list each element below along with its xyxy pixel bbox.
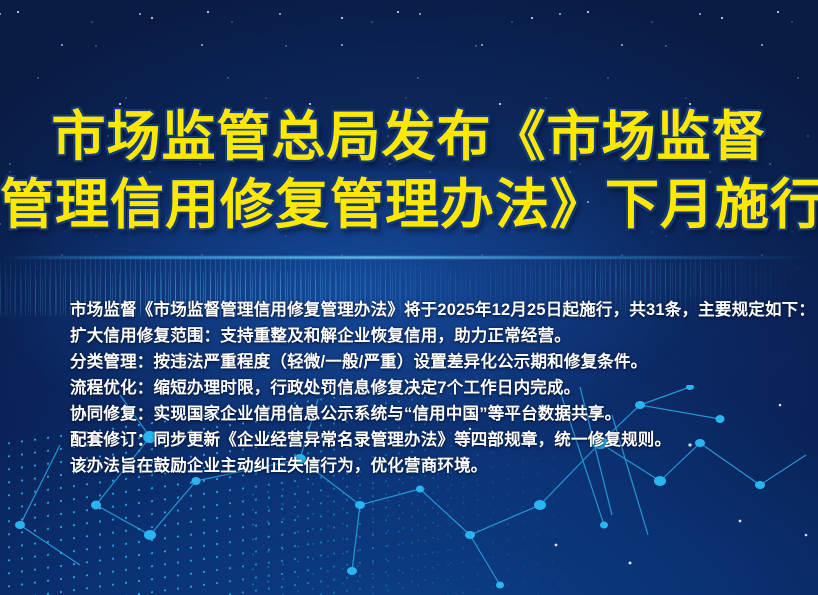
body-line-process: 流程优化：缩短办理时限，行政处罚信息修复决定7个工作日内完成。 — [70, 375, 800, 401]
poster-body-text: 市场监督《市场监督管理信用修复管理办法》将于2025年12月25日起施行，共31… — [70, 297, 800, 479]
body-line-collaborate: 协同修复：实现国家企业信用信息公示系统与“信用中国”等平台数据共享。 — [70, 401, 800, 427]
body-line-classify: 分类管理：按违法严重程度（轻微/一般/严重）设置差异化公示期和修复条件。 — [70, 349, 800, 375]
body-line-intro: 市场监督《市场监督管理信用修复管理办法》将于2025年12月25日起施行，共31… — [70, 297, 800, 323]
poster-content: 市场监管总局发布《市场监督 管理信用修复管理办法》下月施行 市场监督《市场监督管… — [0, 0, 818, 595]
body-line-summary: 该办法旨在鼓励企业主动纠正失信行为，优化营商环境。 — [70, 453, 800, 479]
body-line-amendments: 配套修订：同步更新《企业经营异常名录管理办法》等四部规章，统一修复规则。 — [70, 427, 800, 453]
headline-line-2: 管理信用修复管理办法》下月施行 — [0, 171, 818, 239]
body-line-scope: 扩大信用修复范围：支持重整及和解企业恢复信用，助力正常经营。 — [70, 323, 800, 349]
headline-line-1: 市场监管总局发布《市场监督 — [0, 103, 818, 171]
poster-canvas: 市场监管总局发布《市场监督 管理信用修复管理办法》下月施行 市场监督《市场监督管… — [0, 0, 818, 595]
poster-headline: 市场监管总局发布《市场监督 管理信用修复管理办法》下月施行 — [0, 103, 818, 239]
